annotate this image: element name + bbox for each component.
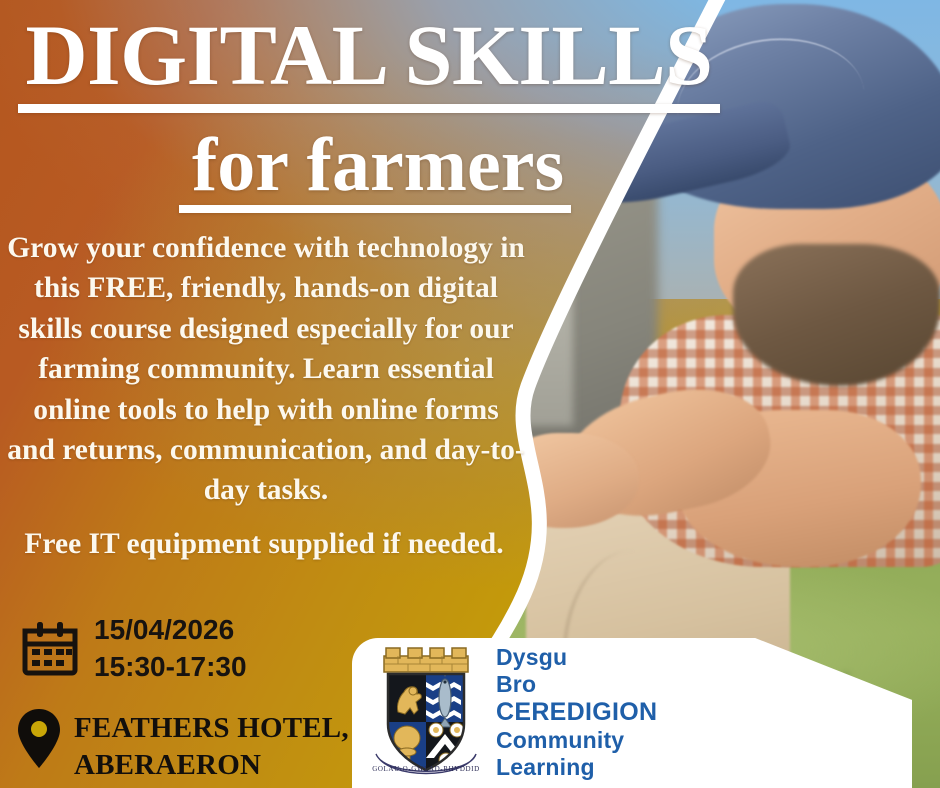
logo-line-ceredigion: CEREDIGION <box>496 698 657 727</box>
venue-line-1: FEATHERS HOTEL, <box>74 710 349 747</box>
page-title-line2: for farmers <box>0 127 738 203</box>
title-underline-2 <box>179 205 571 213</box>
crest-motto: GOLAU-O-GWLAD-RHYDDID <box>372 765 479 773</box>
venue-text: FEATHERS HOTEL, ABERAERON <box>74 706 349 784</box>
body-equipment-note: Free IT equipment supplied if needed. <box>2 524 526 564</box>
date-time-row: 15/04/2026 15:30-17:30 <box>20 612 247 686</box>
logo-line-community: Community <box>496 727 657 754</box>
venue-row: FEATHERS HOTEL, ABERAERON <box>16 706 349 784</box>
logo-line-bro: Bro <box>496 671 657 698</box>
headline-block: DIGITAL SKILLS for farmers <box>0 14 738 213</box>
ceredigion-coat-of-arms-icon: GOLAU-O-GWLAD-RHYDDID <box>370 646 482 778</box>
event-date: 15/04/2026 <box>94 614 234 645</box>
date-time-text: 15/04/2026 15:30-17:30 <box>94 612 247 686</box>
location-pin-icon <box>16 708 62 770</box>
logo-wordmark: Dysgu Bro CEREDIGION Community Learning <box>496 644 657 781</box>
body-copy-block: Grow your confidence with technology in … <box>6 228 526 564</box>
title-underline-1 <box>18 104 720 113</box>
logo-line-dysgu: Dysgu <box>496 644 657 671</box>
venue-line-2: ABERAERON <box>74 747 349 784</box>
logo-line-learning: Learning <box>496 754 657 781</box>
calendar-icon <box>20 620 80 678</box>
logo-lockup: GOLAU-O-GWLAD-RHYDDID Dysgu Bro CEREDIGI… <box>370 644 657 781</box>
body-paragraph: Grow your confidence with technology in … <box>7 232 525 506</box>
poster-canvas: DIGITAL SKILLS for farmers Grow your con… <box>0 0 940 788</box>
page-title-line1: DIGITAL SKILLS <box>0 14 738 97</box>
event-time: 15:30-17:30 <box>94 649 247 686</box>
